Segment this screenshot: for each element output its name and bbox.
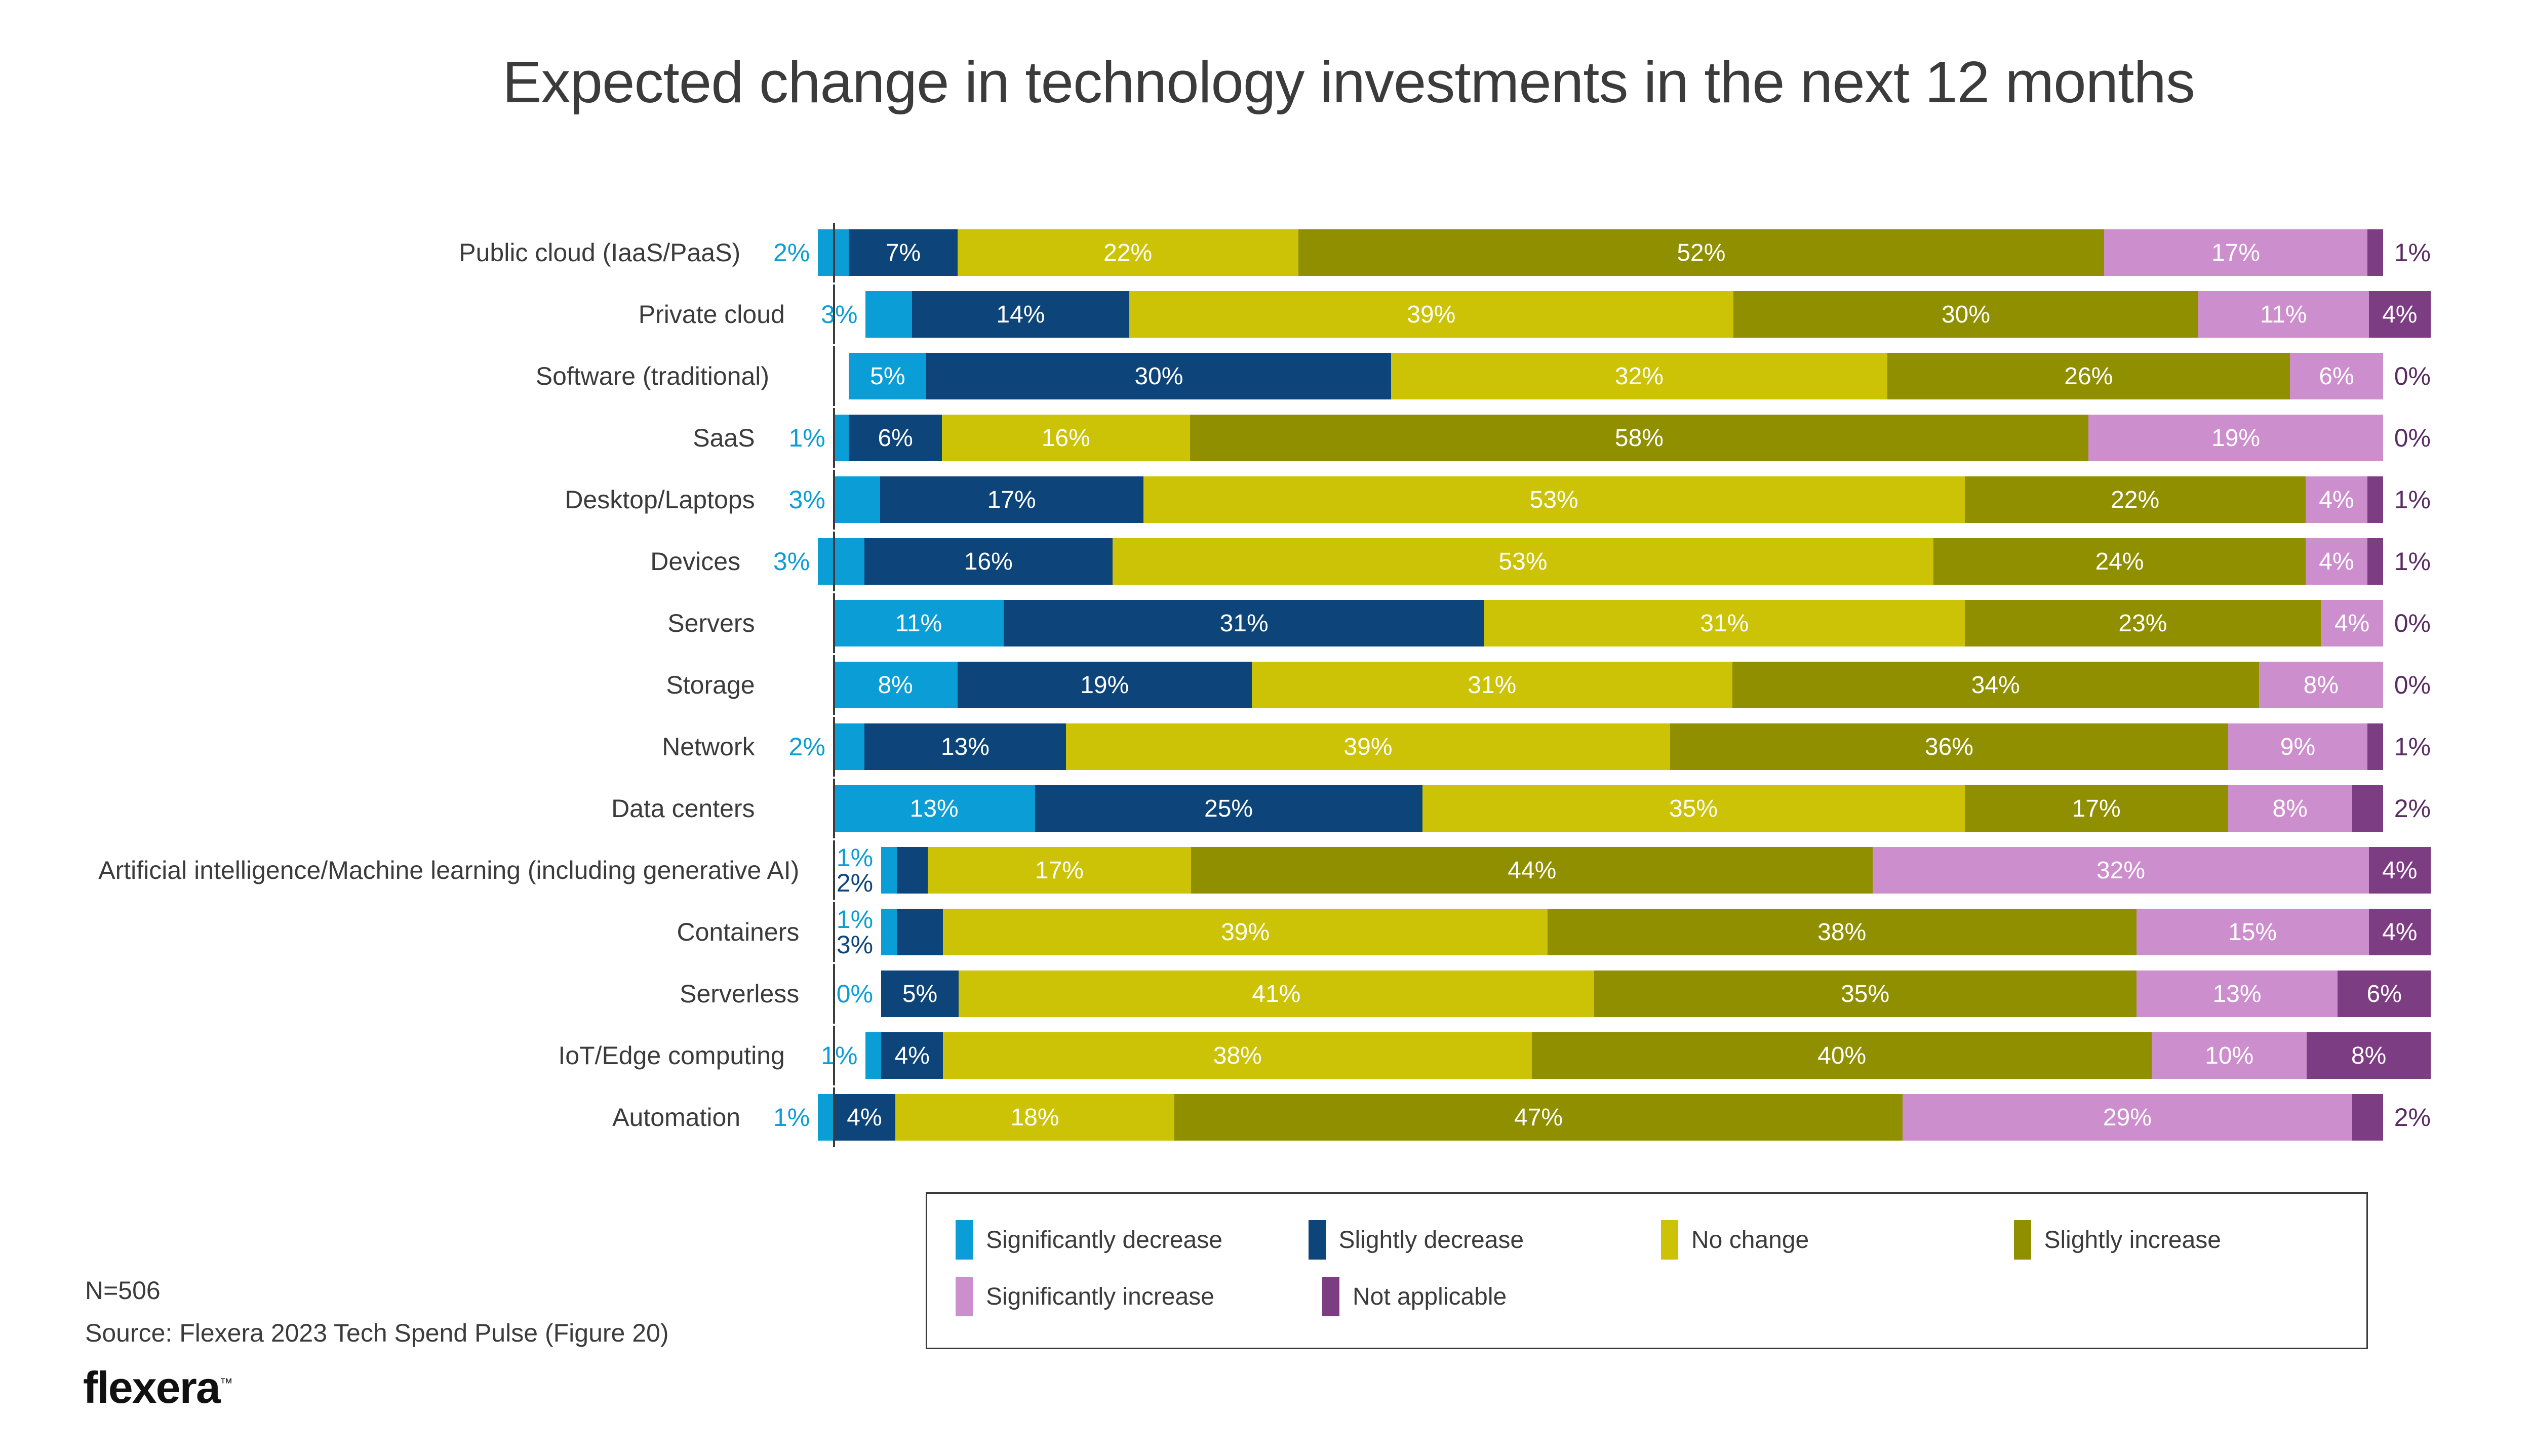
bar-segment: 25% [1035, 785, 1422, 832]
legend-item[interactable]: Slightly decrease [1309, 1220, 1661, 1260]
legend-label: Slightly increase [2044, 1226, 2222, 1254]
axis-line [833, 1026, 835, 1085]
category-label: Artificial intelligence/Machine learning… [51, 857, 817, 884]
segment-value-label: 15% [2228, 918, 2277, 946]
segment-value-label: 17% [2211, 239, 2260, 267]
bar-segment [2367, 476, 2383, 523]
bar-segment: 58% [1190, 415, 2089, 461]
segment-value-label: 4% [2319, 548, 2354, 576]
segment-value-label: 6% [878, 424, 913, 452]
segment-value-label: 8% [2272, 795, 2307, 823]
chart-row: Servers11%31%31%23%4%0% [51, 593, 2431, 653]
category-label: Software (traditional) [51, 362, 787, 390]
outside-left-value: 3% [803, 302, 858, 327]
category-label: Network [51, 733, 773, 761]
segment-value-label: 4% [2382, 918, 2417, 946]
legend-color-swatch-icon [1309, 1220, 1326, 1260]
bar-segment: 5% [881, 970, 959, 1017]
chart-row: Data centers13%25%35%17%8%2% [51, 779, 2431, 838]
outside-left-value: 1% [817, 845, 873, 870]
outside-left-value: 1% [803, 1043, 858, 1068]
outside-left-labels: 1% [773, 425, 834, 451]
legend-item[interactable]: Significantly decrease [956, 1220, 1309, 1260]
legend-item[interactable]: Slightly increase [2014, 1220, 2367, 1260]
bar-segment [818, 538, 864, 585]
stacked-bar: 6%16%58%19% [834, 415, 2383, 461]
bar-segment [2367, 229, 2383, 276]
outside-right-value: 1% [2383, 732, 2431, 761]
bar-segment: 52% [1298, 229, 2104, 276]
bar-segment: 6% [2290, 353, 2383, 399]
bar-segment: 23% [1965, 600, 2321, 646]
segment-value-label: 39% [1221, 918, 1270, 946]
bar-segment: 4% [2369, 847, 2431, 894]
axis-line [833, 1087, 835, 1147]
segment-value-label: 31% [1700, 610, 1749, 637]
segment-value-label: 10% [2205, 1042, 2253, 1070]
stacked-bar: 4%18%47%29% [818, 1094, 2383, 1141]
trademark-symbol: ™ [220, 1376, 232, 1391]
outside-left-value: 3% [817, 932, 873, 957]
chart-row: Serverless0%5%41%35%13%6% [51, 964, 2431, 1024]
bar-segment: 8% [2228, 785, 2352, 832]
chart-row: Containers1%3%39%38%15%4% [51, 902, 2431, 962]
bar-segment: 14% [912, 291, 1129, 338]
bar-segment [834, 723, 864, 770]
category-label: Public cloud (IaaS/PaaS) [51, 239, 759, 267]
chart-row: SaaS1%6%16%58%19%0% [51, 408, 2431, 468]
outside-right-value: 1% [2383, 547, 2431, 576]
axis-line [833, 717, 835, 777]
segment-value-label: 32% [2096, 857, 2145, 884]
category-label: SaaS [51, 424, 773, 452]
stacked-bar: 5%41%35%13%6% [881, 970, 2431, 1017]
bar-segment: 13% [864, 723, 1066, 770]
bar-segment [897, 847, 928, 894]
bar-segment: 53% [1113, 538, 1934, 585]
bar-segment: 30% [926, 353, 1391, 399]
sample-size: N=506 [85, 1276, 669, 1305]
segment-value-label: 39% [1343, 733, 1392, 761]
bar-segment: 4% [834, 1094, 895, 1141]
stacked-bar: 14%39%30%11%4% [865, 291, 2431, 338]
segment-value-label: 9% [2280, 733, 2315, 761]
outside-left-labels: 0% [817, 981, 881, 1006]
segment-value-label: 18% [1011, 1104, 1059, 1131]
legend-label: Not applicable [1353, 1283, 1507, 1311]
segment-value-label: 11% [895, 610, 942, 637]
bar-segment [2352, 785, 2383, 832]
legend-item[interactable]: Significantly increase [956, 1277, 1322, 1316]
segment-value-label: 4% [2382, 857, 2417, 884]
bar-segment: 5% [849, 353, 926, 399]
bar-segment: 8% [834, 662, 958, 708]
outside-left-labels: 1%3% [817, 907, 881, 957]
axis-line [833, 346, 835, 406]
segment-value-label: 22% [2111, 486, 2159, 514]
outside-left-labels: 1% [759, 1105, 818, 1130]
bar-segment [818, 1094, 834, 1141]
stacked-bar-chart: Public cloud (IaaS/PaaS)2%7%22%52%17%1%P… [51, 223, 2431, 1149]
segment-value-label: 8% [878, 671, 913, 699]
chart-page: Expected change in technology investment… [0, 0, 2532, 1456]
segment-value-label: 38% [1213, 1042, 1262, 1070]
bar-segment: 6% [849, 415, 942, 461]
bar-segment: 7% [849, 229, 957, 276]
segment-value-label: 13% [2212, 980, 2261, 1008]
flexera-logo: flexera™ [83, 1362, 232, 1413]
bar-segment: 19% [958, 662, 1252, 708]
category-label: Serverless [51, 980, 817, 1008]
segment-value-label: 30% [1134, 362, 1183, 390]
bar-segment: 22% [1965, 476, 2306, 523]
bar-segment: 8% [2259, 662, 2383, 708]
stacked-bar: 39%38%15%4% [881, 909, 2431, 955]
source-note: Source: Flexera 2023 Tech Spend Pulse (F… [85, 1318, 669, 1348]
category-label: Containers [51, 918, 817, 946]
chart-legend: Significantly decreaseSlightly decreaseN… [926, 1192, 2368, 1349]
legend-item[interactable]: No change [1661, 1220, 2014, 1260]
segment-value-label: 52% [1677, 239, 1725, 267]
axis-line [833, 655, 835, 715]
category-label: Automation [51, 1104, 759, 1131]
segment-value-label: 4% [2319, 486, 2354, 514]
legend-item[interactable]: Not applicable [1322, 1277, 1689, 1316]
segment-value-label: 35% [1669, 795, 1718, 823]
bar-segment: 15% [2137, 909, 2369, 955]
bar-segment: 4% [2306, 476, 2367, 523]
bar-segment: 35% [1422, 785, 1965, 832]
bar-segment [834, 476, 880, 523]
chart-row: Public cloud (IaaS/PaaS)2%7%22%52%17%1% [51, 223, 2431, 282]
segment-value-label: 40% [1817, 1042, 1866, 1070]
segment-value-label: 11% [2260, 301, 2307, 329]
footer: N=506 Source: Flexera 2023 Tech Spend Pu… [85, 1276, 669, 1348]
bar-segment: 39% [1066, 723, 1670, 770]
segment-value-label: 36% [1925, 733, 1973, 761]
bar-segment: 30% [1733, 291, 2198, 338]
legend-label: Slightly decrease [1339, 1226, 1524, 1254]
segment-value-label: 29% [2103, 1104, 2152, 1131]
axis-line [833, 532, 835, 591]
category-label: Desktop/Laptops [51, 486, 773, 514]
bar-segment: 53% [1143, 476, 1965, 523]
bar-segment: 4% [2369, 291, 2431, 338]
chart-row: Artificial intelligence/Machine learning… [51, 840, 2431, 900]
segment-value-label: 47% [1514, 1104, 1563, 1131]
bar-segment: 16% [864, 538, 1113, 585]
bar-segment: 47% [1174, 1094, 1903, 1141]
stacked-bar: 13%25%35%17%8% [834, 785, 2383, 832]
outside-left-value: 3% [759, 549, 810, 574]
segment-value-label: 19% [1080, 671, 1129, 699]
axis-line [833, 779, 835, 838]
category-label: Servers [51, 610, 773, 637]
segment-value-label: 31% [1220, 610, 1269, 637]
segment-value-label: 8% [2304, 671, 2339, 699]
outside-right-value: 2% [2383, 1103, 2431, 1132]
bar-segment: 22% [958, 229, 1298, 276]
stacked-bar: 17%53%22%4% [834, 476, 2383, 523]
outside-right-value: 0% [2383, 361, 2431, 391]
segment-value-label: 17% [1035, 857, 1084, 884]
bar-segment: 26% [1887, 353, 2290, 399]
outside-right-value: 0% [2383, 609, 2431, 638]
bar-segment: 34% [1732, 662, 2259, 708]
outside-left-value: 2% [773, 734, 825, 759]
axis-line [833, 840, 835, 900]
outside-right-value: 0% [2383, 423, 2431, 453]
axis-line [833, 408, 835, 468]
bar-segment: 18% [895, 1094, 1174, 1141]
outside-right-value: 1% [2383, 485, 2431, 514]
axis-line [833, 964, 835, 1024]
segment-value-label: 8% [2351, 1042, 2386, 1070]
stacked-bar: 11%31%31%23%4% [834, 600, 2383, 646]
bar-segment: 39% [1129, 291, 1733, 338]
stacked-bar: 4%38%40%10%8% [865, 1032, 2431, 1079]
segment-value-label: 53% [1498, 548, 1547, 576]
outside-left-value: 1% [773, 425, 825, 451]
chart-row: Private cloud3%14%39%30%11%4% [51, 285, 2431, 344]
segment-value-label: 16% [964, 548, 1013, 576]
segment-value-label: 34% [1971, 671, 2020, 699]
chart-row: Desktop/Laptops3%17%53%22%4%1% [51, 470, 2431, 530]
chart-row: Software (traditional)5%30%32%26%6%0% [51, 346, 2431, 406]
bar-segment: 8% [2307, 1032, 2431, 1079]
chart-row: Network2%13%39%36%9%1% [51, 717, 2431, 777]
outside-left-labels: 3% [773, 487, 834, 512]
segment-value-label: 4% [895, 1042, 930, 1070]
legend-row: Significantly increaseNot applicable [956, 1277, 2366, 1316]
segment-value-label: 30% [1942, 301, 1990, 329]
bar-segment: 39% [943, 909, 1547, 955]
segment-value-label: 32% [1615, 362, 1664, 390]
outside-left-value: 1% [759, 1105, 810, 1130]
bar-segment [865, 291, 912, 338]
chart-row: Devices3%16%53%24%4%1% [51, 532, 2431, 591]
segment-value-label: 58% [1615, 424, 1664, 452]
segment-value-label: 23% [2118, 610, 2167, 637]
bar-segment: 13% [834, 785, 1035, 832]
segment-value-label: 35% [1841, 980, 1889, 1008]
category-label: Storage [51, 671, 773, 699]
bar-segment: 4% [2369, 909, 2431, 955]
segment-value-label: 6% [2367, 980, 2402, 1008]
bar-segment: 16% [942, 415, 1190, 461]
legend-color-swatch-icon [1661, 1220, 1678, 1260]
bar-segment: 17% [880, 476, 1143, 523]
outside-right-value: 2% [2383, 794, 2431, 823]
bar-segment [2352, 1094, 2383, 1141]
outside-left-value: 2% [759, 240, 810, 265]
bar-segment: 4% [2306, 538, 2367, 585]
stacked-bar: 17%44%32%4% [881, 847, 2431, 894]
legend-color-swatch-icon [1322, 1277, 1339, 1316]
bar-segment [881, 909, 897, 955]
legend-color-swatch-icon [2014, 1220, 2031, 1260]
segment-value-label: 4% [2382, 301, 2417, 329]
bar-segment: 40% [1532, 1032, 2152, 1079]
bar-segment: 6% [2338, 970, 2431, 1017]
stacked-bar: 7%22%52%17% [818, 229, 2383, 276]
stacked-bar: 8%19%31%34%8% [834, 662, 2383, 708]
segment-value-label: 41% [1252, 980, 1300, 1008]
bar-segment: 29% [1903, 1094, 2352, 1141]
segment-value-label: 7% [886, 239, 921, 267]
segment-value-label: 5% [902, 980, 937, 1008]
bar-segment: 19% [2088, 415, 2383, 461]
axis-line [833, 223, 835, 282]
outside-left-value: 0% [817, 981, 873, 1006]
bar-segment: 41% [959, 970, 1594, 1017]
category-label: Devices [51, 548, 759, 576]
legend-row: Significantly decreaseSlightly decreaseN… [956, 1220, 2366, 1260]
stacked-bar: 5%30%32%26%6% [849, 353, 2383, 399]
segment-value-label: 26% [2064, 362, 2113, 390]
segment-value-label: 16% [1042, 424, 1090, 452]
segment-value-label: 13% [941, 733, 990, 761]
segment-value-label: 13% [910, 795, 959, 823]
axis-line [833, 285, 835, 344]
bar-segment: 13% [2137, 970, 2338, 1017]
bar-segment: 17% [928, 847, 1191, 894]
logo-wordmark: flexera [83, 1362, 220, 1412]
outside-left-labels: 1%2% [817, 845, 881, 896]
segment-value-label: 44% [1508, 857, 1556, 884]
stacked-bar: 13%39%36%9% [834, 723, 2383, 770]
legend-label: Significantly decrease [986, 1226, 1222, 1254]
bar-segment [865, 1032, 881, 1079]
outside-left-value: 1% [817, 907, 873, 932]
bar-segment: 44% [1191, 847, 1873, 894]
bar-segment [881, 847, 897, 894]
segment-value-label: 31% [1468, 671, 1516, 699]
bar-segment: 32% [1873, 847, 2368, 894]
bar-segment: 31% [1484, 600, 1965, 646]
legend-color-swatch-icon [956, 1220, 973, 1260]
segment-value-label: 14% [996, 301, 1045, 329]
bar-segment: 11% [2198, 291, 2369, 338]
segment-value-label: 53% [1530, 486, 1578, 514]
bar-segment: 24% [1933, 538, 2305, 585]
bar-segment [2367, 723, 2383, 770]
bar-segment: 4% [881, 1032, 943, 1079]
bar-segment: 38% [1548, 909, 2137, 955]
axis-line [833, 470, 835, 530]
segment-value-label: 17% [987, 486, 1036, 514]
axis-line [833, 902, 835, 962]
category-label: IoT/Edge computing [51, 1042, 803, 1070]
segment-value-label: 4% [2335, 610, 2369, 637]
bar-segment: 32% [1391, 353, 1887, 399]
bar-segment: 9% [2228, 723, 2367, 770]
outside-left-value: 2% [817, 870, 873, 896]
chart-row: IoT/Edge computing1%4%38%40%10%8% [51, 1026, 2431, 1085]
category-label: Data centers [51, 795, 773, 823]
bar-segment: 4% [2321, 600, 2383, 646]
segment-value-label: 24% [2095, 548, 2144, 576]
outside-left-labels: 2% [759, 240, 818, 265]
segment-value-label: 4% [847, 1104, 882, 1131]
page-title: Expected change in technology investment… [0, 48, 2532, 116]
bar-segment: 10% [2152, 1032, 2307, 1079]
bar-segment [834, 415, 849, 461]
legend-label: No change [1691, 1226, 1809, 1254]
bar-segment: 36% [1670, 723, 2228, 770]
segment-value-label: 6% [2319, 362, 2354, 390]
chart-row: Automation1%4%18%47%29%2% [51, 1087, 2431, 1147]
segment-value-label: 38% [1817, 918, 1866, 946]
bar-segment: 11% [834, 600, 1004, 646]
bar-segment: 17% [1965, 785, 2228, 832]
outside-left-labels: 2% [773, 734, 834, 759]
bar-segment: 35% [1594, 970, 2137, 1017]
segment-value-label: 25% [1204, 795, 1253, 823]
outside-right-value: 1% [2383, 238, 2431, 267]
axis-line [833, 593, 835, 653]
chart-row: Storage8%19%31%34%8%0% [51, 655, 2431, 715]
segment-value-label: 17% [2072, 795, 2121, 823]
outside-left-value: 3% [773, 487, 825, 512]
bar-segment: 38% [943, 1032, 1532, 1079]
bar-segment [897, 909, 943, 955]
segment-value-label: 22% [1103, 239, 1152, 267]
bar-segment [2367, 538, 2383, 585]
legend-color-swatch-icon [956, 1277, 973, 1316]
bar-segment: 31% [1252, 662, 1732, 708]
segment-value-label: 19% [2211, 424, 2260, 452]
segment-value-label: 5% [870, 362, 905, 390]
stacked-bar: 16%53%24%4% [818, 538, 2383, 585]
category-label: Private cloud [51, 301, 803, 329]
outside-left-labels: 3% [759, 549, 818, 574]
segment-value-label: 39% [1407, 301, 1455, 329]
legend-label: Significantly increase [986, 1283, 1214, 1311]
bar-segment: 31% [1004, 600, 1484, 646]
bar-segment: 17% [2104, 229, 2367, 276]
outside-right-value: 0% [2383, 670, 2431, 700]
